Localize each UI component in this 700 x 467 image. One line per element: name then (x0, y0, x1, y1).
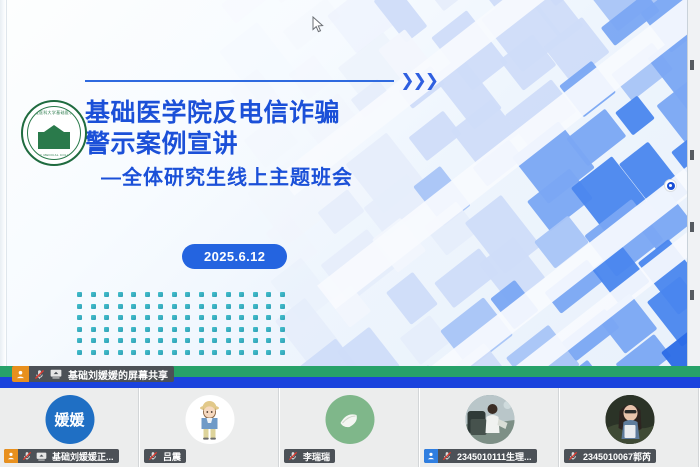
grid-dot (185, 304, 190, 309)
grid-dot (239, 338, 244, 343)
grid-dot (104, 315, 109, 320)
grid-dot (199, 327, 204, 332)
person-icon (4, 449, 18, 463)
decorative-tile (337, 326, 400, 366)
grid-dot (226, 338, 231, 343)
participant-tile[interactable]: 媛媛基础刘媛媛正... (0, 388, 140, 467)
mouse-pointer-icon (312, 16, 326, 34)
share-presenter-label[interactable]: 基础刘媛媛的屏幕共享 (12, 366, 174, 382)
grid-dot (158, 327, 163, 332)
grid-dot (185, 292, 190, 297)
grid-dot (158, 292, 163, 297)
grid-dot (77, 315, 82, 320)
participant-name-bar: 2345010067郭芮 (564, 449, 656, 463)
participant-tile[interactable]: 吕震 (140, 388, 280, 467)
grid-dot (226, 315, 231, 320)
grid-dot (91, 292, 96, 297)
grid-dot (239, 350, 244, 355)
grid-dot (158, 315, 163, 320)
grid-dot (266, 292, 271, 297)
grid-dot (118, 315, 123, 320)
grid-dot (77, 338, 82, 343)
participant-name: 2345010111生理... (457, 450, 532, 463)
mic-muted-icon (22, 451, 32, 461)
grid-dot (226, 350, 231, 355)
tile-separator (278, 388, 279, 467)
avatar-liu-yuanyuan: 媛媛 (45, 395, 94, 444)
grid-dot (77, 292, 82, 297)
avatar-2345010067 (605, 395, 654, 444)
grid-dot (212, 292, 217, 297)
grid-dot (77, 304, 82, 309)
presentation-slide: ❯❯❯ 基础医学院反电信诈骗 警示案例宣讲 —全体研究生线上主题班会 2025.… (7, 0, 687, 366)
grid-dot (280, 338, 285, 343)
grid-dot (280, 304, 285, 309)
decorative-tile (427, 0, 488, 11)
shared-screen-region[interactable]: ❯❯❯ 基础医学院反电信诈骗 警示案例宣讲 —全体研究生线上主题班会 2025.… (0, 0, 700, 366)
grid-dot (104, 304, 109, 309)
annotation-dot-icon[interactable] (664, 179, 677, 192)
grid-dot (253, 315, 258, 320)
grid-dot (145, 292, 150, 297)
tile-separator (138, 388, 139, 467)
mic-muted-icon (568, 451, 578, 461)
participant-name: 基础刘媛媛正... (52, 450, 114, 463)
grid-dot (131, 327, 136, 332)
grid-dot (118, 350, 123, 355)
grid-dot (199, 350, 204, 355)
grid-dot (172, 304, 177, 309)
avatar-2345010111 (465, 395, 514, 444)
grid-dot (118, 304, 123, 309)
participant-tile[interactable]: 2345010067郭芮 (560, 388, 700, 467)
grid-dot (145, 327, 150, 332)
grid-dot (212, 350, 217, 355)
participant-name: 2345010067郭芮 (583, 450, 651, 463)
grid-dot (212, 327, 217, 332)
participant-tile[interactable]: 2345010111生理... (420, 388, 560, 467)
screen-share-banner: 基础刘媛媛的屏幕共享 (0, 366, 700, 388)
grid-dot (158, 304, 163, 309)
mic-muted-icon (34, 369, 45, 380)
grid-dot (226, 304, 231, 309)
participant-name-bar: 李瑞瑞 (284, 449, 335, 463)
grid-dot (199, 304, 204, 309)
seal-text-top: 安徽医科大学基础医学院 (28, 110, 80, 116)
grid-dot (104, 292, 109, 297)
slide-title-line1: 基础医学院反电信诈骗 (85, 98, 455, 129)
grid-dot (212, 304, 217, 309)
participant-name-bar: 吕震 (144, 449, 186, 463)
grid-dot (253, 327, 258, 332)
grid-dot (158, 338, 163, 343)
grid-dot (77, 350, 82, 355)
slide-date-badge: 2025.6.12 (182, 244, 287, 269)
participant-name-bar: 2345010111生理... (424, 449, 537, 463)
grid-dot (118, 327, 123, 332)
grid-dot (172, 338, 177, 343)
grid-dot (185, 338, 190, 343)
grid-dot (266, 327, 271, 332)
grid-dot (212, 338, 217, 343)
grid-dot (91, 338, 96, 343)
grid-dot (253, 304, 258, 309)
screen-share-icon (36, 452, 47, 461)
grid-dot (239, 315, 244, 320)
grid-dot (77, 327, 82, 332)
title-divider-line (85, 80, 394, 82)
grid-dot (266, 304, 271, 309)
mic-muted-icon (288, 451, 298, 461)
grid-dot (172, 292, 177, 297)
grid-dot (104, 338, 109, 343)
grid-dot (280, 327, 285, 332)
avatar-lv-zhen (185, 395, 234, 444)
grid-dot (239, 292, 244, 297)
grid-dot (266, 338, 271, 343)
grid-dot (131, 338, 136, 343)
grid-dot (104, 350, 109, 355)
grid-dot (185, 327, 190, 332)
grid-dot (158, 350, 163, 355)
participant-name: 李瑞瑞 (303, 450, 330, 463)
avatar-li-ruirui (325, 395, 374, 444)
grid-dot (131, 315, 136, 320)
grid-dot (212, 315, 217, 320)
seal-text-bottom: BASIC MEDICAL COLLEGE (28, 153, 80, 157)
decorative-dot-grid (77, 292, 293, 361)
grid-dot (91, 350, 96, 355)
university-seal-icon: 安徽医科大学基础医学院 BASIC MEDICAL COLLEGE (21, 100, 87, 166)
participant-filmstrip[interactable]: 媛媛基础刘媛媛正...吕震李瑞瑞2345010111生理...234501006… (0, 388, 700, 467)
participant-name-bar: 基础刘媛媛正... (4, 449, 119, 463)
chevron-right-icon: ❯❯❯ (400, 72, 437, 89)
person-icon (424, 449, 438, 463)
grid-dot (199, 292, 204, 297)
share-presenter-name: 基础刘媛媛的屏幕共享 (68, 367, 168, 382)
grid-dot (131, 304, 136, 309)
decorative-tile (266, 0, 309, 4)
grid-dot (239, 304, 244, 309)
seal-inner-ring: 安徽医科大学基础医学院 BASIC MEDICAL COLLEGE (27, 106, 81, 160)
grid-dot (145, 304, 150, 309)
grid-dot (199, 315, 204, 320)
grid-dot (131, 292, 136, 297)
grid-dot (280, 315, 285, 320)
grid-dot (239, 327, 244, 332)
grid-dot (253, 292, 258, 297)
screen-share-icon (50, 369, 62, 379)
grid-dot (253, 350, 258, 355)
grid-dot (280, 292, 285, 297)
grid-dot (172, 315, 177, 320)
participant-name: 吕震 (163, 450, 181, 463)
tile-separator (418, 388, 419, 467)
tile-separator (698, 388, 699, 467)
grid-dot (104, 327, 109, 332)
grid-dot (118, 338, 123, 343)
seal-building-glyph (38, 132, 70, 149)
grid-dot (145, 350, 150, 355)
grid-dot (253, 338, 258, 343)
grid-dot (226, 327, 231, 332)
grid-dot (118, 292, 123, 297)
avatar-initials: 媛媛 (54, 409, 84, 430)
title-rule-row: ❯❯❯ (85, 72, 437, 89)
grid-dot (185, 350, 190, 355)
meeting-screen-share-window: ❯❯❯ 基础医学院反电信诈骗 警示案例宣讲 —全体研究生线上主题班会 2025.… (0, 0, 700, 467)
slide-title-line2: 警示案例宣讲 (85, 129, 455, 160)
grid-dot (91, 304, 96, 309)
right-edge-panel-strip (687, 0, 700, 366)
participant-tile[interactable]: 李瑞瑞 (280, 388, 420, 467)
grid-dot (266, 315, 271, 320)
grid-dot (226, 292, 231, 297)
mic-muted-icon (148, 451, 158, 461)
person-icon (12, 366, 29, 382)
grid-dot (145, 315, 150, 320)
slide-subtitle: —全体研究生线上主题班会 (101, 165, 455, 191)
grid-dot (145, 338, 150, 343)
decorative-tile (221, 0, 267, 23)
grid-dot (91, 315, 96, 320)
grid-dot (131, 350, 136, 355)
grid-dot (91, 327, 96, 332)
grid-dot (172, 350, 177, 355)
slide-title-block: ❯❯❯ 基础医学院反电信诈骗 警示案例宣讲 —全体研究生线上主题班会 (85, 72, 455, 191)
grid-dot (266, 350, 271, 355)
grid-dot (185, 315, 190, 320)
grid-dot (199, 338, 204, 343)
mic-muted-icon (442, 451, 452, 461)
left-edge-strip (0, 0, 7, 366)
grid-dot (280, 350, 285, 355)
tile-separator (558, 388, 559, 467)
grid-dot (172, 327, 177, 332)
